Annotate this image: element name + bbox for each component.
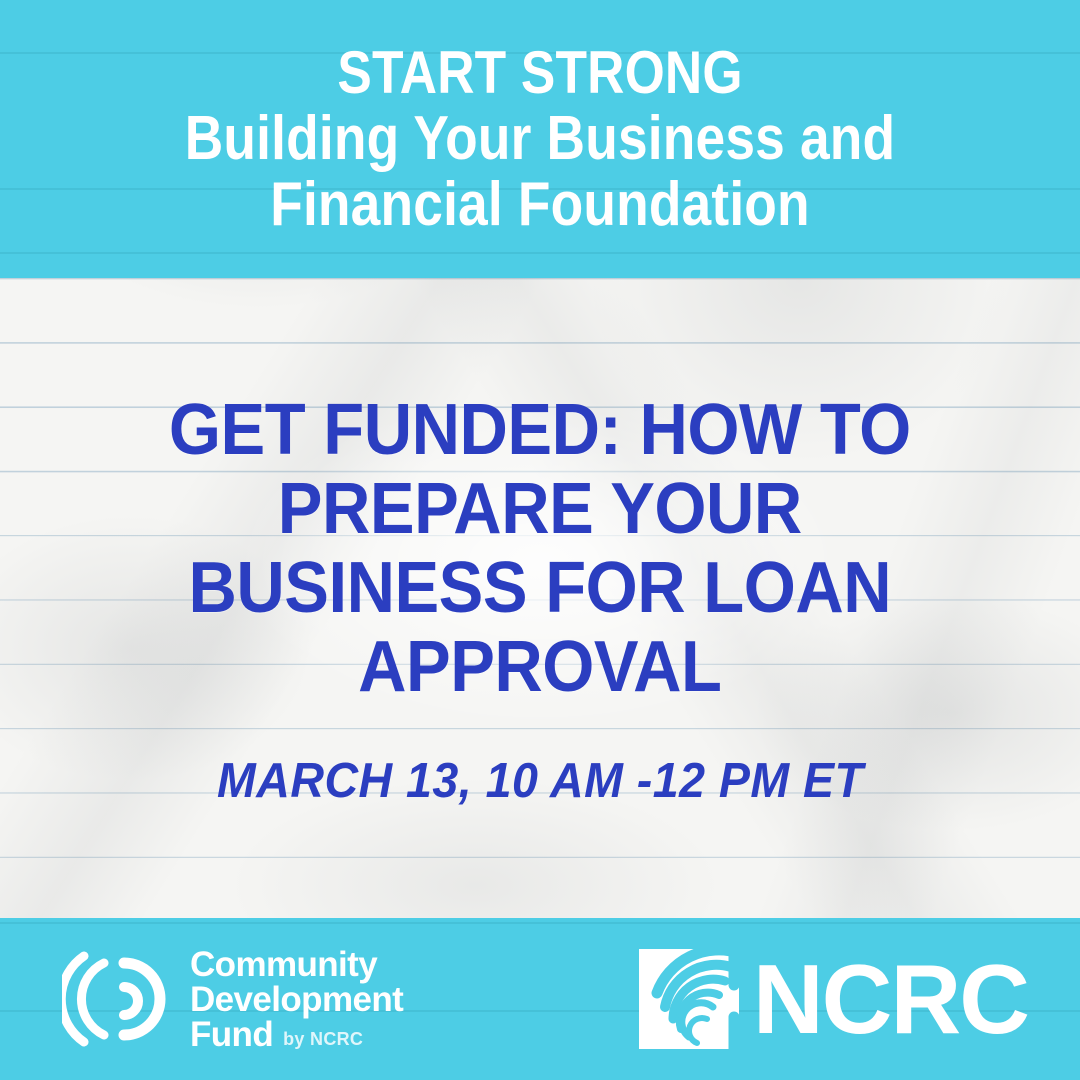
cdf-byline: by NCRC [283,1030,363,1048]
ncrc-logo[interactable]: NCRC [635,945,1028,1053]
footer-content: Community Development Fund by NCRC [0,918,1080,1080]
main-content: GET FUNDED: HOW TO PREPARE YOUR BUSINESS… [0,282,1080,918]
cdf-line-1: Community [190,947,403,982]
event-title: GET FUNDED: HOW TO PREPARE YOUR BUSINESS… [169,391,911,708]
cdf-wordmark: Community Development Fund by NCRC [190,947,403,1052]
header-title-group: START STRONG Building Your Business and … [76,0,1005,278]
header-line-3: Financial Foundation [270,173,810,236]
title-line-4: APPROVAL [169,628,911,707]
promo-poster: START STRONG Building Your Business and … [0,0,1080,1080]
cdf-line-3: Fund [190,1017,273,1052]
title-line-1: GET FUNDED: HOW TO [169,391,911,470]
event-datetime: MARCH 13, 10 AM -12 PM ET [217,753,863,809]
cdf-logo[interactable]: Community Development Fund by NCRC [62,943,403,1055]
ncrc-spiral-square-icon [635,945,743,1053]
cdf-line-2: Development [190,982,403,1017]
header-line-2: Building Your Business and [185,107,896,170]
title-line-2: PREPARE YOUR [169,470,911,549]
ncrc-wordmark: NCRC [753,957,1028,1041]
title-line-3: BUSINESS FOR LOAN [169,549,911,628]
concentric-arcs-icon [62,943,174,1055]
header-line-1: START STRONG [337,42,742,103]
